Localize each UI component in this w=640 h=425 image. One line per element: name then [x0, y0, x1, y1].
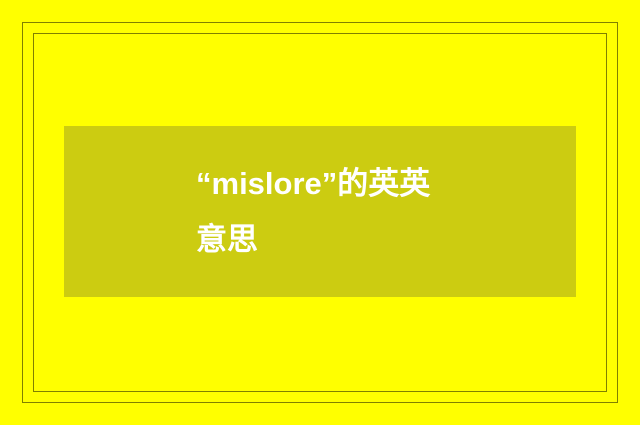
title-band: “mislore”的英英意思 — [64, 126, 576, 297]
title-text: “mislore”的英英意思 — [196, 156, 444, 268]
poster-canvas: “mislore”的英英意思 — [0, 0, 640, 425]
